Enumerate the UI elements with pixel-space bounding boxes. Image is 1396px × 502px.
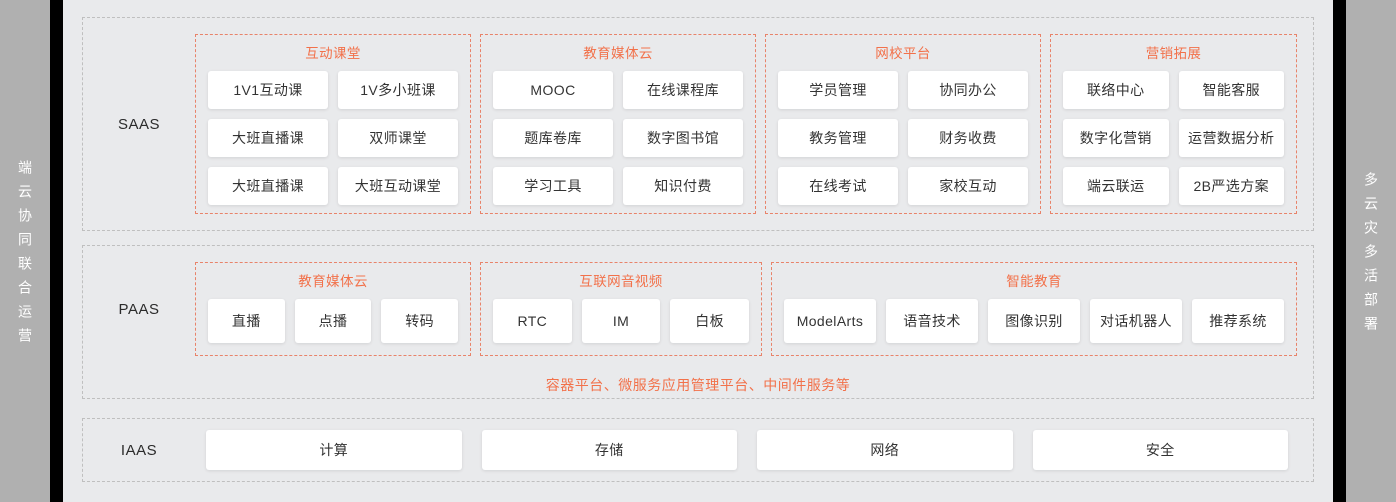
tile[interactable]: ModelArts	[784, 299, 876, 343]
layer-label-iaas: IAAS	[83, 419, 195, 481]
tile[interactable]: 图像识别	[988, 299, 1080, 343]
tile[interactable]: 知识付费	[623, 167, 743, 205]
layer-iaas: IAAS 计算 存储 网络 安全	[82, 418, 1314, 482]
tile[interactable]: 直播	[208, 299, 285, 343]
group-tiles: 学员管理 协同办公 教务管理 财务收费 在线考试 家校互动	[778, 71, 1028, 205]
tile[interactable]: 1V1互动课	[208, 71, 328, 109]
tile[interactable]: 家校互动	[908, 167, 1028, 205]
tile[interactable]: 白板	[670, 299, 749, 343]
group-title: 智能教育	[784, 271, 1284, 293]
group-paas-education-media-cloud: 教育媒体云 直播 点播 转码	[195, 262, 471, 356]
layer-label-saas: SAAS	[83, 18, 195, 230]
group-paas-intelligent-education: 智能教育 ModelArts 语音技术 图像识别 对话机器人 推荐系统	[771, 262, 1297, 356]
paas-groups: 教育媒体云 直播 点播 转码 互联网音视频 RTC IM 白板	[195, 246, 1313, 372]
layer-paas: PAAS 教育媒体云 直播 点播 转码 互联网音视频 RTC	[82, 245, 1314, 399]
tile[interactable]: 转码	[381, 299, 458, 343]
tile[interactable]: 教务管理	[778, 119, 898, 157]
tile[interactable]: 1V多小班课	[338, 71, 458, 109]
tile[interactable]: 运营数据分析	[1179, 119, 1285, 157]
saas-groups: 互动课堂 1V1互动课 1V多小班课 大班直播课 双师课堂 大班直播课 大班互动…	[195, 18, 1313, 230]
group-title: 互动课堂	[208, 43, 458, 65]
tile[interactable]: 联络中心	[1063, 71, 1169, 109]
tile[interactable]: 语音技术	[886, 299, 978, 343]
tile[interactable]: 在线考试	[778, 167, 898, 205]
tile[interactable]: 智能客服	[1179, 71, 1285, 109]
iaas-tiles: 计算 存储 网络 安全	[195, 419, 1313, 481]
tile[interactable]: 大班直播课	[208, 167, 328, 205]
group-title: 教育媒体云	[208, 271, 458, 293]
tile[interactable]: 学习工具	[493, 167, 613, 205]
group-tiles: RTC IM 白板	[493, 299, 749, 343]
tile[interactable]: 题库卷库	[493, 119, 613, 157]
tile[interactable]: 双师课堂	[338, 119, 458, 157]
group-title: 营销拓展	[1063, 43, 1284, 65]
right-rail-label: 多云灾多活部署	[1364, 162, 1378, 340]
tile[interactable]: 数字图书馆	[623, 119, 743, 157]
group-saas-marketing-expansion: 营销拓展 联络中心 智能客服 数字化营销 运营数据分析 端云联运 2B严选方案	[1050, 34, 1297, 214]
group-title: 网校平台	[778, 43, 1028, 65]
group-tiles: ModelArts 语音技术 图像识别 对话机器人 推荐系统	[784, 299, 1284, 343]
left-rail-divider	[50, 0, 63, 502]
group-tiles: 直播 点播 转码	[208, 299, 458, 343]
tile[interactable]: 网络	[757, 430, 1013, 470]
tile[interactable]: 学员管理	[778, 71, 898, 109]
tile[interactable]: 安全	[1033, 430, 1289, 470]
tile[interactable]: MOOC	[493, 71, 613, 109]
tile[interactable]: RTC	[493, 299, 572, 343]
paas-footnote: 容器平台、微服务应用管理平台、中间件服务等	[83, 372, 1313, 398]
tile[interactable]: 对话机器人	[1090, 299, 1182, 343]
left-rail-label: 端云协同联合运营	[18, 150, 32, 352]
tile[interactable]: 2B严选方案	[1179, 167, 1285, 205]
tile[interactable]: 协同办公	[908, 71, 1028, 109]
architecture-diagram: 端云协同联合运营 SAAS 互动课堂 1V1互动课 1V多小班课 大班直播课 双…	[0, 0, 1396, 502]
tile[interactable]: 计算	[206, 430, 462, 470]
group-title: 教育媒体云	[493, 43, 743, 65]
right-rail: 多云灾多活部署	[1346, 0, 1396, 502]
group-paas-internet-audio-video: 互联网音视频 RTC IM 白板	[480, 262, 762, 356]
layer-label-paas: PAAS	[83, 246, 195, 372]
tile[interactable]: 推荐系统	[1192, 299, 1284, 343]
paas-top-row: PAAS 教育媒体云 直播 点播 转码 互联网音视频 RTC	[83, 246, 1313, 372]
group-saas-online-school-platform: 网校平台 学员管理 协同办公 教务管理 财务收费 在线考试 家校互动	[765, 34, 1041, 214]
group-saas-education-media-cloud: 教育媒体云 MOOC 在线课程库 题库卷库 数字图书馆 学习工具 知识付费	[480, 34, 756, 214]
tile[interactable]: IM	[582, 299, 661, 343]
tile[interactable]: 存储	[482, 430, 738, 470]
tile[interactable]: 数字化营销	[1063, 119, 1169, 157]
right-rail-divider	[1333, 0, 1346, 502]
tile[interactable]: 端云联运	[1063, 167, 1169, 205]
tile[interactable]: 大班互动课堂	[338, 167, 458, 205]
layers-canvas: SAAS 互动课堂 1V1互动课 1V多小班课 大班直播课 双师课堂 大班直播课…	[63, 0, 1333, 502]
group-title: 互联网音视频	[493, 271, 749, 293]
tile[interactable]: 点播	[295, 299, 372, 343]
tile[interactable]: 财务收费	[908, 119, 1028, 157]
layer-saas: SAAS 互动课堂 1V1互动课 1V多小班课 大班直播课 双师课堂 大班直播课…	[82, 17, 1314, 231]
group-tiles: MOOC 在线课程库 题库卷库 数字图书馆 学习工具 知识付费	[493, 71, 743, 205]
group-tiles: 联络中心 智能客服 数字化营销 运营数据分析 端云联运 2B严选方案	[1063, 71, 1284, 205]
tile[interactable]: 在线课程库	[623, 71, 743, 109]
group-tiles: 1V1互动课 1V多小班课 大班直播课 双师课堂 大班直播课 大班互动课堂	[208, 71, 458, 205]
left-rail: 端云协同联合运营	[0, 0, 50, 502]
group-saas-interactive-classroom: 互动课堂 1V1互动课 1V多小班课 大班直播课 双师课堂 大班直播课 大班互动…	[195, 34, 471, 214]
tile[interactable]: 大班直播课	[208, 119, 328, 157]
